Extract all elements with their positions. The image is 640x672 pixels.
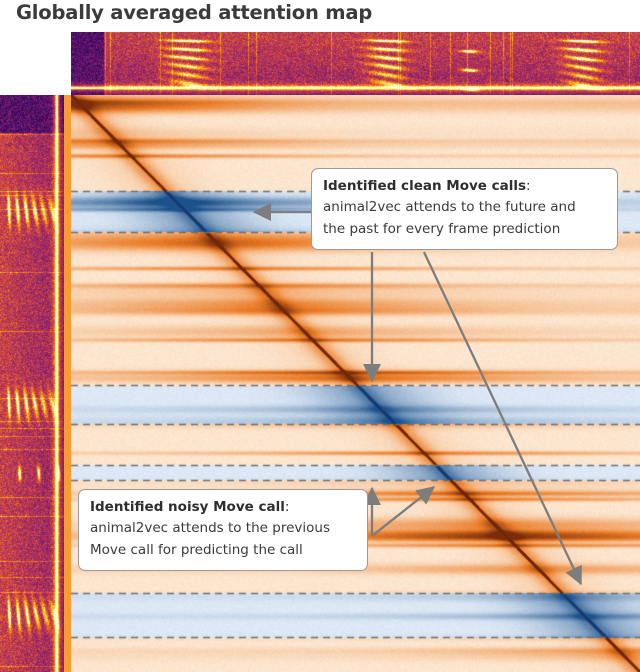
callout-noisy-line2: Move call for predicting the call [90, 539, 356, 561]
callout-noisy-heading-text: Identified noisy Move call [90, 499, 285, 515]
callout-noisy-move-call: Identified noisy Move call: animal2vec a… [78, 489, 368, 571]
callout-clean-line1: animal2vec attends to the future and [323, 196, 606, 218]
panel-divider [64, 95, 71, 672]
callout-clean-move-calls: Identified clean Move calls: animal2vec … [311, 168, 618, 250]
callout-clean-heading-colon: : [526, 178, 531, 194]
callout-noisy-heading-colon: : [285, 499, 290, 515]
callout-noisy-line1: animal2vec attends to the previous [90, 517, 356, 539]
top-spectrogram-canvas [71, 32, 640, 95]
left-spectrogram-canvas [0, 95, 64, 672]
top-spectrogram-panel [71, 32, 640, 95]
page-title: Globally averaged attention map [16, 1, 372, 24]
callout-noisy-heading: Identified noisy Move call: [90, 497, 356, 517]
callout-clean-line2: the past for every frame prediction [323, 218, 606, 240]
callout-clean-heading: Identified clean Move calls: [323, 176, 606, 196]
left-spectrogram-panel [0, 95, 64, 672]
callout-clean-heading-text: Identified clean Move calls [323, 178, 526, 194]
attention-map-figure: Globally averaged attention map Identifi… [0, 0, 640, 672]
